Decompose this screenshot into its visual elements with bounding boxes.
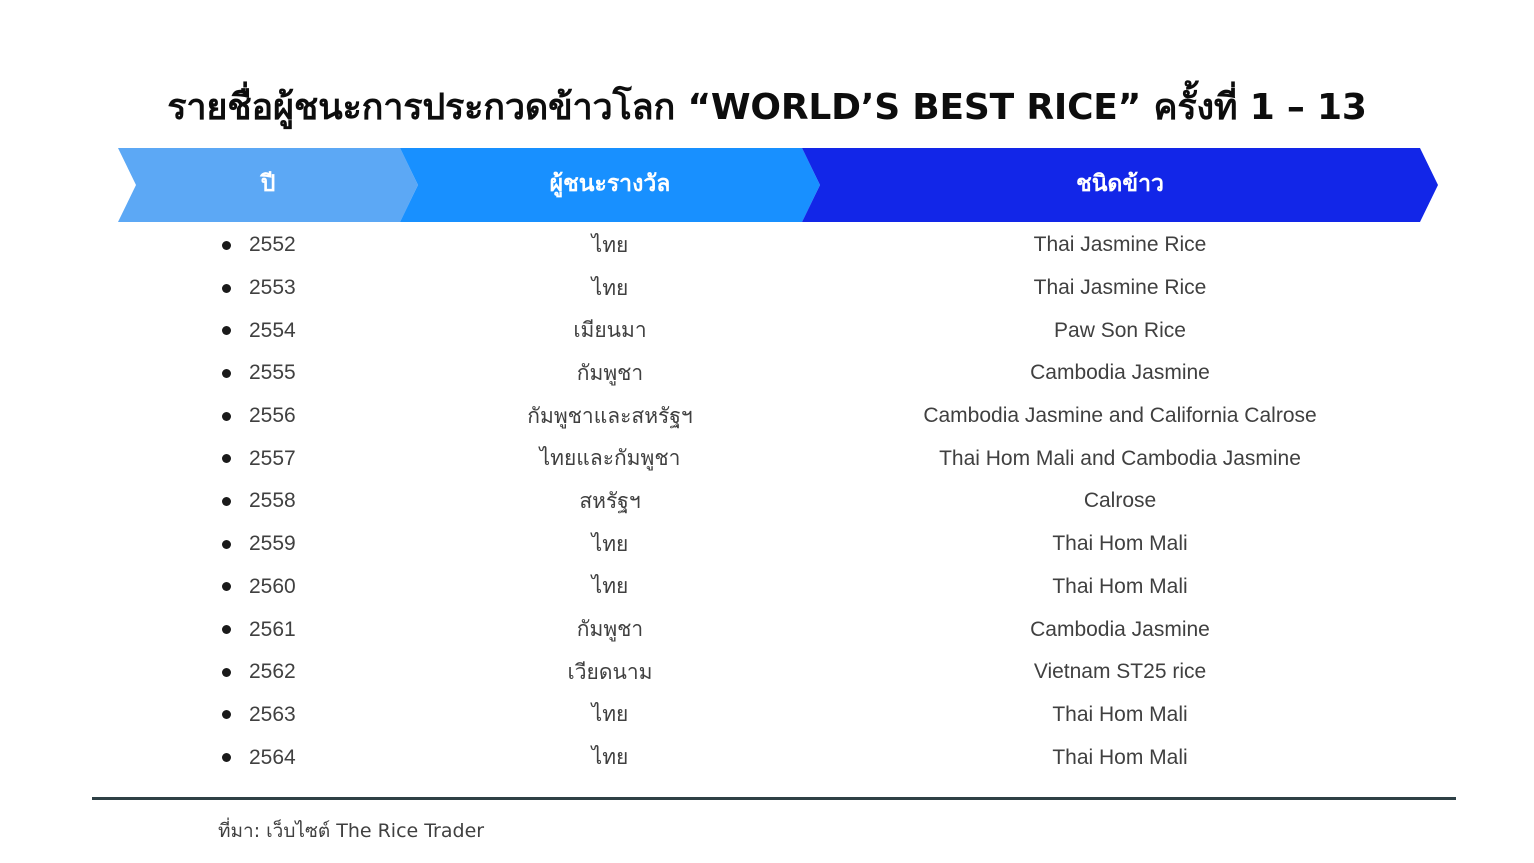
- cell-year-label: 2557: [249, 447, 296, 471]
- table-row: 2563ไทยThai Hom Mali: [118, 694, 1438, 737]
- cell-rice-type: Thai Hom Mali: [802, 703, 1438, 727]
- source-note: ที่มา: เว็บไซต์ The Rice Trader: [218, 816, 484, 846]
- cell-rice-type: Calrose: [802, 489, 1438, 513]
- bullet-icon: [222, 582, 231, 591]
- bullet-icon: [222, 284, 231, 293]
- table-row: 2556กัมพูชาและสหรัฐฯCambodia Jasmine and…: [118, 395, 1438, 438]
- cell-year-label: 2564: [249, 746, 296, 770]
- cell-year: 2553: [118, 276, 418, 300]
- cell-year-label: 2558: [249, 489, 296, 513]
- page-title: รายชื่อผู้ชนะการประกวดข้าวโลก “WORLD’S B…: [0, 78, 1534, 135]
- cell-year-label: 2561: [249, 618, 296, 642]
- slide-canvas: รายชื่อผู้ชนะการประกวดข้าวโลก “WORLD’S B…: [0, 0, 1534, 863]
- cell-winner: กัมพูชาและสหรัฐฯ: [418, 400, 802, 433]
- cell-year-label: 2555: [249, 361, 296, 385]
- column-header-year: ปี: [118, 148, 418, 222]
- cell-winner: ไทย: [418, 229, 802, 262]
- cell-year-label: 2560: [249, 575, 296, 599]
- table-body: 2552ไทยThai Jasmine Rice2553ไทยThai Jasm…: [118, 224, 1438, 779]
- column-header-rice-type: ชนิดข้าว: [802, 148, 1438, 222]
- cell-year: 2560: [118, 575, 418, 599]
- cell-winner: ไทยและกัมพูชา: [418, 442, 802, 475]
- cell-winner: ไทย: [418, 528, 802, 561]
- cell-year-label: 2554: [249, 319, 296, 343]
- column-header-winner: ผู้ชนะรางวัล: [400, 148, 820, 222]
- bullet-icon: [222, 454, 231, 463]
- cell-year: 2557: [118, 447, 418, 471]
- table-row: 2553ไทยThai Jasmine Rice: [118, 267, 1438, 310]
- cell-year: 2558: [118, 489, 418, 513]
- bullet-icon: [222, 412, 231, 421]
- bullet-icon: [222, 710, 231, 719]
- table-row: 2559ไทยThai Hom Mali: [118, 523, 1438, 566]
- cell-winner: ไทย: [418, 570, 802, 603]
- bullet-icon: [222, 668, 231, 677]
- cell-year: 2562: [118, 660, 418, 684]
- table-row: 2554เมียนมาPaw Son Rice: [118, 309, 1438, 352]
- cell-winner: กัมพูชา: [418, 613, 802, 646]
- cell-year: 2564: [118, 746, 418, 770]
- bullet-icon: [222, 753, 231, 762]
- cell-year-label: 2563: [249, 703, 296, 727]
- table-header-band: ปี ผู้ชนะรางวัล ชนิดข้าว: [118, 148, 1438, 222]
- cell-rice-type: Thai Hom Mali: [802, 532, 1438, 556]
- cell-rice-type: Thai Jasmine Rice: [802, 276, 1438, 300]
- source-divider: [92, 797, 1456, 800]
- bullet-icon: [222, 497, 231, 506]
- cell-year: 2563: [118, 703, 418, 727]
- cell-winner: เมียนมา: [418, 314, 802, 347]
- cell-winner: ไทย: [418, 698, 802, 731]
- cell-rice-type: Vietnam ST25 rice: [802, 660, 1438, 684]
- table-row: 2562เวียดนามVietnam ST25 rice: [118, 651, 1438, 694]
- column-header-rice-type-label: ชนิดข้าว: [1076, 173, 1164, 198]
- cell-year: 2555: [118, 361, 418, 385]
- cell-rice-type: Thai Hom Mali: [802, 746, 1438, 770]
- bullet-icon: [222, 326, 231, 335]
- bullet-icon: [222, 625, 231, 634]
- cell-winner: ไทย: [418, 741, 802, 774]
- cell-year-label: 2559: [249, 532, 296, 556]
- table-row: 2552ไทยThai Jasmine Rice: [118, 224, 1438, 267]
- cell-winner: สหรัฐฯ: [418, 485, 802, 518]
- cell-year: 2561: [118, 618, 418, 642]
- cell-year-label: 2553: [249, 276, 296, 300]
- table-row: 2564ไทยThai Hom Mali: [118, 736, 1438, 779]
- cell-year-label: 2552: [249, 233, 296, 257]
- cell-rice-type: Cambodia Jasmine: [802, 618, 1438, 642]
- cell-rice-type: Thai Hom Mali: [802, 575, 1438, 599]
- bullet-icon: [222, 540, 231, 549]
- table-row: 2557ไทยและกัมพูชาThai Hom Mali and Cambo…: [118, 437, 1438, 480]
- column-header-year-label: ปี: [261, 173, 276, 198]
- cell-year-label: 2562: [249, 660, 296, 684]
- table-row: 2555กัมพูชาCambodia Jasmine: [118, 352, 1438, 395]
- cell-rice-type: Cambodia Jasmine and California Calrose: [802, 404, 1438, 428]
- table-row: 2558สหรัฐฯCalrose: [118, 480, 1438, 523]
- cell-year: 2556: [118, 404, 418, 428]
- bullet-icon: [222, 241, 231, 250]
- cell-winner: กัมพูชา: [418, 357, 802, 390]
- cell-year-label: 2556: [249, 404, 296, 428]
- table-row: 2561กัมพูชาCambodia Jasmine: [118, 608, 1438, 651]
- table-row: 2560ไทยThai Hom Mali: [118, 566, 1438, 609]
- cell-year: 2559: [118, 532, 418, 556]
- cell-rice-type: Cambodia Jasmine: [802, 361, 1438, 385]
- cell-winner: ไทย: [418, 272, 802, 305]
- cell-rice-type: Paw Son Rice: [802, 319, 1438, 343]
- cell-year: 2554: [118, 319, 418, 343]
- column-header-winner-label: ผู้ชนะรางวัล: [550, 173, 671, 198]
- bullet-icon: [222, 369, 231, 378]
- cell-winner: เวียดนาม: [418, 656, 802, 689]
- cell-year: 2552: [118, 233, 418, 257]
- cell-rice-type: Thai Hom Mali and Cambodia Jasmine: [802, 447, 1438, 471]
- cell-rice-type: Thai Jasmine Rice: [802, 233, 1438, 257]
